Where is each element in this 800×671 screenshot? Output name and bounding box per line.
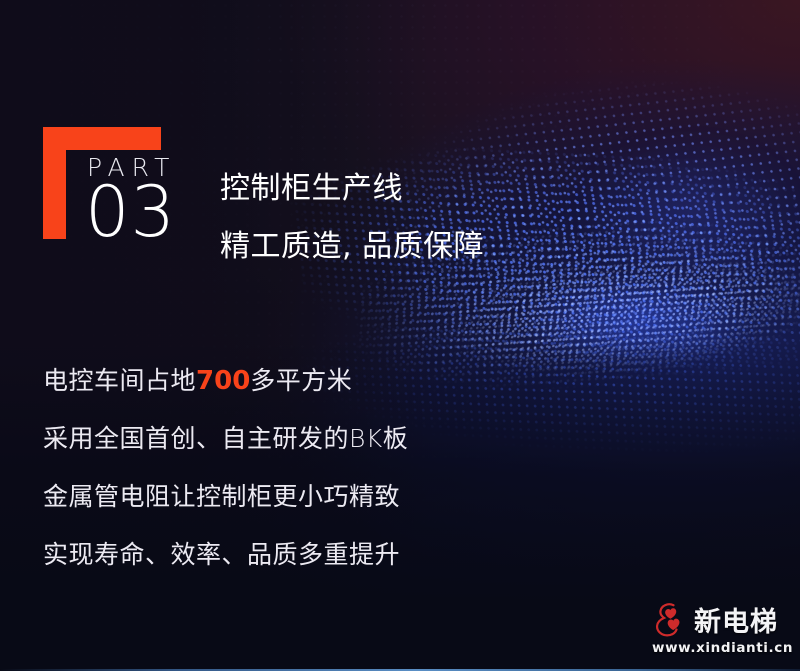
elevator-heart-logo-icon xyxy=(652,602,686,638)
logo-name: 新电梯 xyxy=(694,600,778,639)
logo-url: www.xindianti.cn xyxy=(652,640,792,656)
slide-root: PART 03 控制柜生产线 精工质造, 品质保障 电控车间占地700多平方米 … xyxy=(0,0,800,671)
body-line: 实现寿命、效率、品质多重提升 xyxy=(43,526,408,584)
body-line-4-text: 实现寿命、效率、品质多重提升 xyxy=(43,540,400,569)
logo-row: 新电梯 xyxy=(652,600,792,639)
watermark-logo: 新电梯 www.xindianti.cn xyxy=(652,600,792,658)
part-number: 03 xyxy=(85,177,176,247)
body-line: 电控车间占地700多平方米 xyxy=(43,352,408,410)
body-line-1-post: 多平方米 xyxy=(250,366,352,395)
body-line: 金属管电阻让控制柜更小巧精致 xyxy=(43,468,408,526)
body-line-2-text: 采用全国首创、自主研发的BK板 xyxy=(43,424,408,453)
headline-block: 控制柜生产线 精工质造, 品质保障 xyxy=(220,160,660,276)
headline-line-1: 控制柜生产线 xyxy=(220,160,660,218)
part-block: PART 03 xyxy=(43,127,223,257)
body-line-1-highlight: 700 xyxy=(196,366,250,396)
headline-line-2: 精工质造, 品质保障 xyxy=(220,218,660,276)
body-line: 采用全国首创、自主研发的BK板 xyxy=(43,410,408,468)
body-lines-block: 电控车间占地700多平方米 采用全国首创、自主研发的BK板 金属管电阻让控制柜更… xyxy=(43,352,408,584)
bracket-horizontal-bar xyxy=(43,127,161,150)
body-line-1-pre: 电控车间占地 xyxy=(43,366,196,395)
body-line-3-text: 金属管电阻让控制柜更小巧精致 xyxy=(43,482,400,511)
